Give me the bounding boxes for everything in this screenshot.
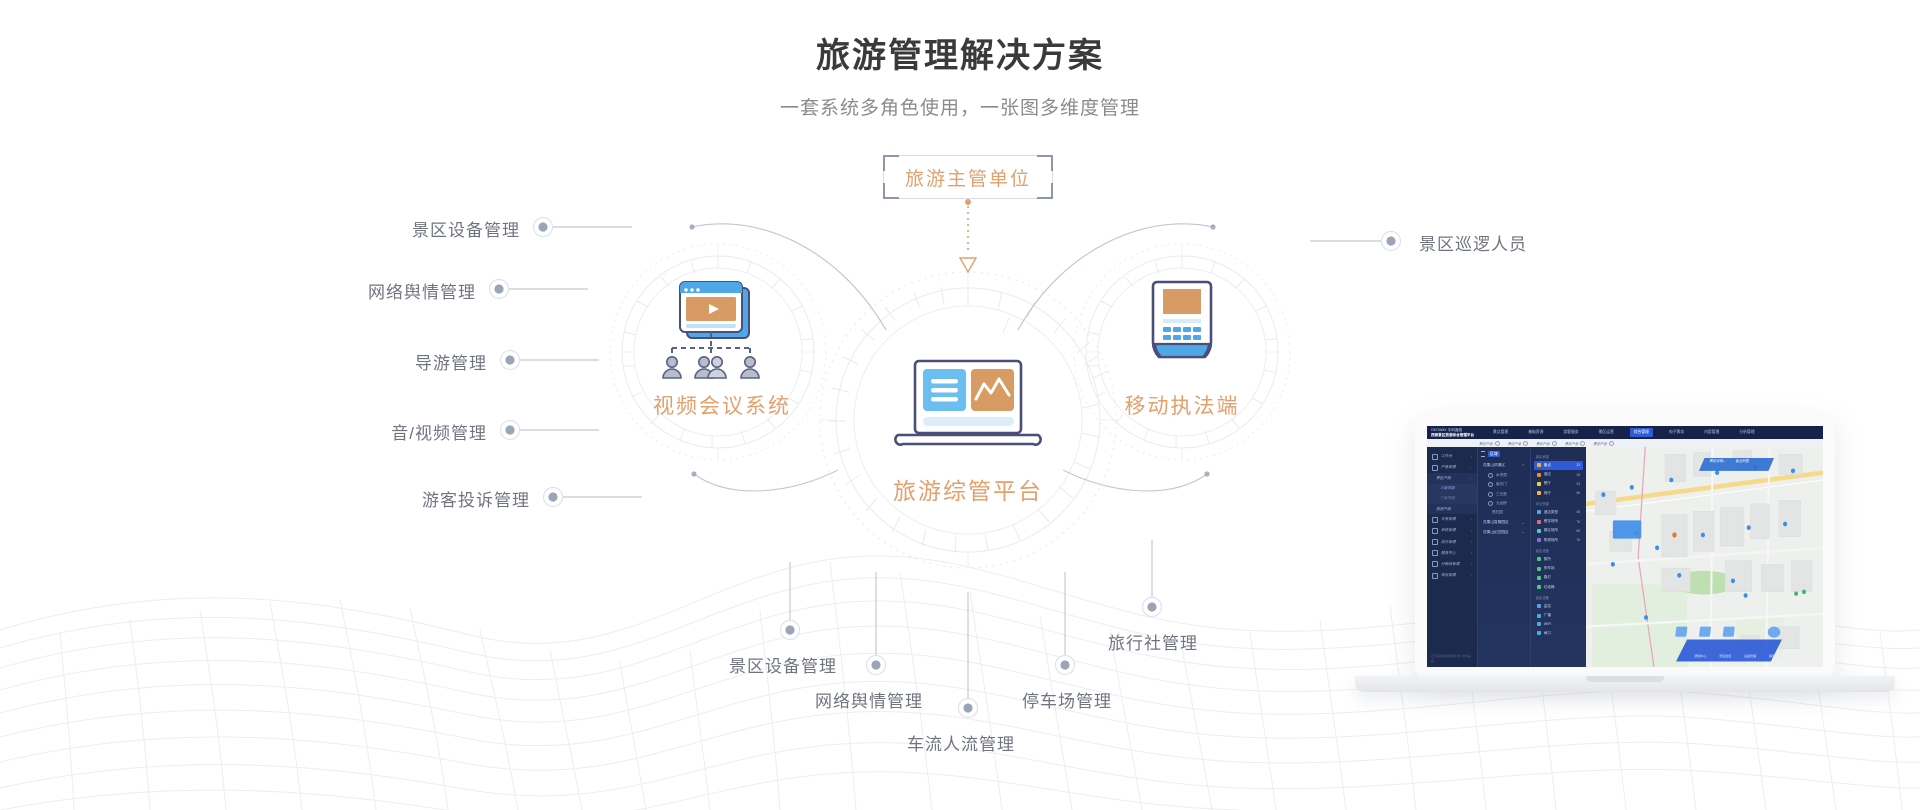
layer-color-swatch [1537, 622, 1541, 626]
layer-group-title-0: 景区资源 [1534, 451, 1583, 461]
chevron-right-icon: › [1471, 562, 1472, 566]
sidebar-footer: 江苏某某科技有限公司 中科遥感 [1427, 650, 1477, 667]
dashboard-topbar: GEOWAY 中科遥感 西部景区旅游综合管理平台 景点管理 基础资源 游客服务 … [1427, 426, 1823, 439]
sidebar-item-3[interactable]: 三级页面 [1427, 484, 1477, 494]
sidebar-item-5[interactable]: 旅游产品 [1427, 504, 1477, 514]
bullet-icon [1488, 473, 1493, 478]
right-label-1[interactable]: 景区巡逻人员 [1419, 230, 1527, 255]
tree-label-3: 三元宫 [1496, 492, 1507, 497]
region-tree-header: 区域 [1481, 451, 1527, 457]
dashboard-body: 工作台› 产品管理⌄ 景区产品⌄ 三级页面 二级页面 旅游产品 交易管理› 系统… [1427, 447, 1823, 667]
chevron-down-icon: ⌄ [1469, 476, 1472, 480]
layer-row-0-2[interactable]: 餐厅23 [1534, 479, 1583, 488]
tab-1[interactable]: 景区产品 [1508, 441, 1529, 446]
dashboard-brand: GEOWAY 中科遥感 西部景区旅游综合管理平台 [1427, 428, 1481, 438]
sidebar-label-9: 服务中心 [1441, 551, 1456, 556]
tab-label-0: 景区产品 [1479, 441, 1493, 446]
layer-group-title-2: 景区设施 [1534, 545, 1583, 555]
product-icon [1432, 465, 1438, 471]
close-icon[interactable] [1580, 441, 1585, 446]
bullet-icon [1488, 501, 1493, 506]
layer-label: 餐饮场所 [1544, 519, 1558, 524]
sidebar-item-1[interactable]: 产品管理⌄ [1427, 462, 1477, 473]
sidebar-label-4: 二级页面 [1440, 496, 1455, 501]
sidebar-label-10: 分销商管理 [1441, 562, 1459, 567]
layer-label: 停车场 [1544, 566, 1555, 571]
nav-item-4[interactable]: 综合管理 [1630, 428, 1653, 437]
tree-node-1[interactable]: 水帘洞 [1481, 471, 1527, 480]
layer-label: 景点 [1544, 463, 1551, 468]
sidebar-item-6[interactable]: 交易管理› [1427, 514, 1477, 525]
layer-label: 闸口 [1544, 631, 1551, 636]
layer-row-2-3[interactable]: 垃圾桶 [1534, 583, 1583, 592]
layer-color-swatch [1537, 491, 1541, 495]
sidebar-label-3: 三级页面 [1440, 486, 1455, 491]
bottom-label-1[interactable]: 景区设备管理 [729, 652, 837, 677]
dock-item-1[interactable]: 景区监控 [1719, 654, 1731, 658]
layer-row-3-0[interactable]: 监控 [1534, 602, 1583, 611]
chart-icon [1432, 539, 1438, 545]
layer-label: 餐厅 [1544, 481, 1551, 486]
authority-label: 旅游主管单位 [905, 164, 1031, 191]
left-label-3[interactable]: 导游管理 [317, 349, 487, 374]
nav-item-0[interactable]: 景点管理 [1489, 428, 1512, 437]
tab-4[interactable]: 景区产品 [1593, 441, 1614, 446]
left-connector-dots [490, 218, 563, 507]
chevron-right-icon: › [1471, 540, 1472, 544]
nav-item-7[interactable]: 分析管理 [1735, 428, 1758, 437]
tree-node-2[interactable]: 南天门 [1481, 480, 1527, 489]
bottom-label-3[interactable]: 车流人流管理 [907, 730, 1015, 755]
bullet-icon [1488, 482, 1493, 487]
sidebar-item-8[interactable]: 成分管理› [1427, 537, 1477, 548]
sidebar-label-1: 产品管理 [1441, 465, 1456, 470]
layer-count: 56 [1576, 491, 1580, 495]
close-icon[interactable] [1523, 441, 1528, 446]
workbench-icon [1432, 454, 1438, 460]
dock-item-0[interactable]: 通知中心 [1694, 654, 1706, 658]
node-title-video-conference: 视频会议系统 [653, 390, 783, 420]
dashboard-app: GEOWAY 中科遥感 西部景区旅游综合管理平台 景点管理 基础资源 游客服务 … [1427, 426, 1823, 667]
map-button-1[interactable]: 景点列表 [1736, 458, 1750, 463]
tab-2[interactable]: 景区产品 [1536, 441, 1557, 446]
sidebar-item-7[interactable]: 系统管理› [1427, 525, 1477, 536]
close-icon[interactable] [1552, 441, 1557, 446]
layer-group-title-3: 景区设备 [1534, 592, 1583, 602]
dock-item-2[interactable]: 设备管理 [1744, 654, 1756, 658]
authority-connector-arrow [960, 199, 976, 272]
tree-label-6: 花果山智管园区 [1483, 520, 1509, 525]
left-label-4[interactable]: 音/视频管理 [317, 419, 487, 444]
sidebar-label-7: 系统管理 [1441, 528, 1456, 533]
left-label-5[interactable]: 游客投诉管理 [360, 486, 530, 511]
chevron-down-icon: ⌄ [1522, 521, 1525, 525]
layer-color-swatch [1537, 529, 1541, 533]
layer-row-1-0[interactable]: 酒店类型45 [1534, 508, 1583, 517]
layer-color-swatch [1537, 557, 1541, 561]
laptop-screen: GEOWAY 中科遥感 西部景区旅游综合管理平台 景点管理 基础资源 游客服务 … [1427, 426, 1823, 667]
sidebar-label-11: 体验管理 [1441, 573, 1456, 578]
solution-diagram-page: 旅游管理解决方案 一套系统多角色使用，一张图多维度管理 [0, 0, 1920, 810]
close-icon[interactable] [1495, 441, 1500, 446]
chevron-right-icon: › [1471, 518, 1472, 522]
layer-label: WIFI [1544, 622, 1552, 626]
layer-count: 25 [1576, 473, 1580, 477]
layer-label: 景区场所 [1544, 528, 1558, 533]
bottom-connectors [790, 540, 1152, 698]
layer-row-1-2[interactable]: 景区场所65 [1534, 526, 1583, 535]
chevron-up-icon: ⌃ [1522, 464, 1525, 468]
tab-label-4: 景区产品 [1593, 441, 1607, 446]
dock-item-3[interactable]: 舆情监测 [1769, 654, 1781, 658]
sidebar-label-5: 旅游产品 [1436, 507, 1451, 512]
tree-node-0[interactable]: 花果山风景区⌃ [1481, 461, 1527, 471]
nav-item-5[interactable]: 电子票务 [1665, 428, 1688, 437]
sidebar-item-4[interactable]: 二级页面 [1427, 494, 1477, 504]
map-dock: 通知中心 景区监控 设备管理 舆情监测 [1688, 654, 1788, 658]
trade-icon [1432, 517, 1438, 523]
tree-node-7[interactable]: 花果山纪念园区⌄ [1481, 527, 1527, 537]
layer-row-0-0[interactable]: 景点23 [1534, 461, 1583, 470]
tree-label-4: 九龙桥 [1496, 501, 1507, 506]
box-edge-bottom [897, 198, 1039, 199]
sidebar-item-9[interactable]: 服务中心› [1427, 548, 1477, 559]
page-subtitle: 一套系统多角色使用，一张图多维度管理 [0, 93, 1920, 120]
laptop-lid: GEOWAY 中科遥感 西部景区旅游综合管理平台 景点管理 基础资源 游客服务 … [1415, 414, 1835, 679]
region-tree-column: 区域 花果山风景区⌃ 水帘洞 南天门 三元宫 九龙桥 怪石园 花果山智管园区⌄ … [1478, 447, 1530, 667]
layer-label: 监控 [1544, 604, 1551, 609]
right-connectors [1310, 232, 1401, 251]
sidebar-item-0[interactable]: 工作台› [1427, 451, 1477, 462]
sidebar-label-0: 工作台 [1441, 454, 1452, 459]
layer-color-swatch [1537, 614, 1541, 618]
tree-label-0: 花果山风景区 [1483, 463, 1505, 468]
map-button-0[interactable]: 景区设施⌄ [1709, 458, 1725, 463]
map-top-buttons: 景区设施⌄ 景点列表 [1709, 458, 1749, 463]
layer-row-0-3[interactable]: 网厅56 [1534, 489, 1583, 498]
system-icon [1432, 528, 1438, 534]
layer-count: 76 [1576, 538, 1580, 542]
layer-row-2-0[interactable]: 厕所 [1534, 555, 1583, 564]
tree-label-2: 南天门 [1496, 482, 1507, 487]
nav-item-6[interactable]: 内容管理 [1700, 428, 1723, 437]
layer-color-swatch [1537, 520, 1541, 524]
nav-item-1[interactable]: 基础资源 [1524, 428, 1547, 437]
connector-arc-lower-left [691, 470, 838, 491]
left-connectors [508, 227, 642, 497]
map-button-label-0: 景区设施 [1709, 459, 1723, 463]
tree-node-5[interactable]: 怪石园 [1481, 508, 1527, 517]
layer-label: 路灯 [1544, 575, 1551, 580]
layer-color-swatch [1537, 463, 1541, 467]
video-window-icon [663, 282, 759, 378]
layer-row-2-1[interactable]: 停车场 [1534, 564, 1583, 573]
chevron-down-icon: ⌄ [1723, 459, 1726, 463]
layer-label: 酒店 [1544, 472, 1551, 477]
laptop-mockup: GEOWAY 中科遥感 西部景区旅游综合管理平台 景点管理 基础资源 游客服务 … [1355, 414, 1895, 704]
sidebar-item-2[interactable]: 景区产品⌄ [1427, 473, 1477, 483]
node-title-tourism-platform: 旅游综管平台 [888, 472, 1048, 506]
layer-list-column: 景区资源 景点23 酒店25 餐厅23 网厅56 评论资源 酒店类型45 餐饮场… [1530, 447, 1586, 667]
page-header: 旅游管理解决方案 一套系统多角色使用，一张图多维度管理 [0, 36, 1920, 120]
chevron-right-icon: › [1471, 455, 1472, 459]
tab-label-3: 景区产品 [1565, 441, 1579, 446]
layer-row-1-1[interactable]: 餐饮场所76 [1534, 517, 1583, 526]
chevron-down-icon: ⌄ [1522, 530, 1525, 534]
layer-color-swatch [1537, 510, 1541, 514]
dashboard-map[interactable]: 景区设施⌄ 景点列表 通知中心 景区监控 设备管理 舆情监测 [1586, 447, 1823, 667]
corner-bracket-bottom-left [883, 183, 899, 199]
sidebar-item-11[interactable]: 体验管理› [1427, 570, 1477, 581]
left-label-2[interactable]: 网络舆情管理 [306, 278, 476, 303]
tree-label-7: 花果山纪念园区 [1483, 530, 1509, 535]
page-title: 旅游管理解决方案 [0, 36, 1920, 77]
layer-count: 23 [1576, 463, 1580, 467]
left-label-1[interactable]: 景区设备管理 [350, 216, 520, 241]
laptop-dashboard-icon [895, 361, 1040, 445]
node-title-mobile-enforcement: 移动执法端 [1117, 390, 1247, 420]
dashboard-sidebar: 工作台› 产品管理⌄ 景区产品⌄ 三级页面 二级页面 旅游产品 交易管理› 系统… [1427, 447, 1477, 667]
layer-row-3-3[interactable]: 闸口 [1534, 629, 1583, 638]
corner-bracket-top-left [883, 155, 899, 171]
nav-item-3[interactable]: 景区运营 [1595, 428, 1618, 437]
layer-label: 垃圾桶 [1544, 585, 1555, 590]
box-edge-top [897, 155, 1039, 156]
layer-label: 厕所 [1544, 557, 1551, 562]
chevron-right-icon: › [1471, 551, 1472, 555]
layer-row-3-2[interactable]: WIFI [1534, 620, 1583, 628]
sidebar-label-2: 景区产品 [1436, 476, 1451, 481]
user-icon [1432, 561, 1438, 567]
dashboard-layer-panel: 区域 花果山风景区⌃ 水帘洞 南天门 三元宫 九龙桥 怪石园 花果山智管园区⌄ … [1477, 447, 1586, 667]
layer-color-swatch [1537, 482, 1541, 486]
dashboard-tabstrip: 景区产品 景区产品 景区产品 景区产品 景区产品 [1427, 439, 1823, 447]
layer-row-2-2[interactable]: 路灯 [1534, 573, 1583, 582]
region-tree-title: 区域 [1488, 451, 1500, 457]
tree-label-5: 怪石园 [1492, 510, 1503, 515]
layer-color-swatch [1537, 538, 1541, 542]
layer-label: 网厅 [1544, 491, 1551, 496]
layer-row-1-3[interactable]: 购物场所76 [1534, 536, 1583, 545]
tree-node-3[interactable]: 三元宫 [1481, 490, 1527, 499]
tree-node-6[interactable]: 花果山智管园区⌄ [1481, 518, 1527, 528]
service-icon [1432, 550, 1438, 556]
experience-icon [1432, 573, 1438, 579]
close-icon[interactable] [1609, 441, 1614, 446]
sidebar-item-10[interactable]: 分销商管理› [1427, 559, 1477, 570]
tab-label-2: 景区产品 [1536, 441, 1550, 446]
layer-row-3-1[interactable]: 广播 [1534, 611, 1583, 620]
chevron-right-icon: › [1471, 574, 1472, 578]
layer-color-swatch [1537, 585, 1541, 589]
sidebar-label-8: 成分管理 [1441, 540, 1456, 545]
bullet-icon [1488, 492, 1493, 497]
layer-label: 酒店类型 [1544, 510, 1558, 515]
layer-label: 购物场所 [1544, 538, 1558, 543]
layer-count: 76 [1576, 520, 1580, 524]
bottom-label-5[interactable]: 旅行社管理 [1108, 629, 1198, 654]
layer-color-swatch [1537, 604, 1541, 608]
laptop-notch [1586, 676, 1664, 682]
layer-group-title-1: 评论资源 [1534, 498, 1583, 508]
layer-count: 65 [1576, 529, 1580, 533]
layer-color-swatch [1537, 631, 1541, 635]
layer-count: 23 [1576, 482, 1580, 486]
layer-color-swatch [1537, 473, 1541, 477]
tab-3[interactable]: 景区产品 [1565, 441, 1586, 446]
corner-bracket-top-right [1037, 155, 1053, 171]
brand-line-2: 西部景区旅游综合管理平台 [1431, 433, 1481, 438]
layer-label: 广播 [1544, 613, 1551, 618]
bottom-label-4[interactable]: 停车场管理 [1022, 687, 1112, 712]
nav-item-2[interactable]: 游客服务 [1559, 428, 1582, 437]
tab-label-1: 景区产品 [1508, 441, 1522, 446]
corner-bracket-bottom-right [1037, 183, 1053, 199]
layer-row-0-1[interactable]: 酒店25 [1534, 470, 1583, 479]
tree-label-1: 水帘洞 [1496, 473, 1507, 478]
chevron-right-icon: › [1471, 529, 1472, 533]
dashboard-nav: 景点管理 基础资源 游客服务 景区运营 综合管理 电子票务 内容管理 分析管理 [1481, 428, 1759, 437]
layer-color-swatch [1537, 576, 1541, 580]
chevron-down-icon: ⌄ [1469, 466, 1472, 470]
authority-box[interactable]: 旅游主管单位 [883, 155, 1053, 199]
sidebar-label-6: 交易管理 [1441, 517, 1456, 522]
tree-node-4[interactable]: 九龙桥 [1481, 499, 1527, 508]
menu-icon [1481, 451, 1485, 457]
tab-0[interactable]: 景区产品 [1479, 441, 1500, 446]
layer-count: 45 [1576, 510, 1580, 514]
bottom-label-2[interactable]: 网络舆情管理 [815, 687, 923, 712]
circle-video-conference [610, 244, 826, 460]
layer-color-swatch [1537, 567, 1541, 571]
handheld-device-icon [1153, 282, 1211, 357]
